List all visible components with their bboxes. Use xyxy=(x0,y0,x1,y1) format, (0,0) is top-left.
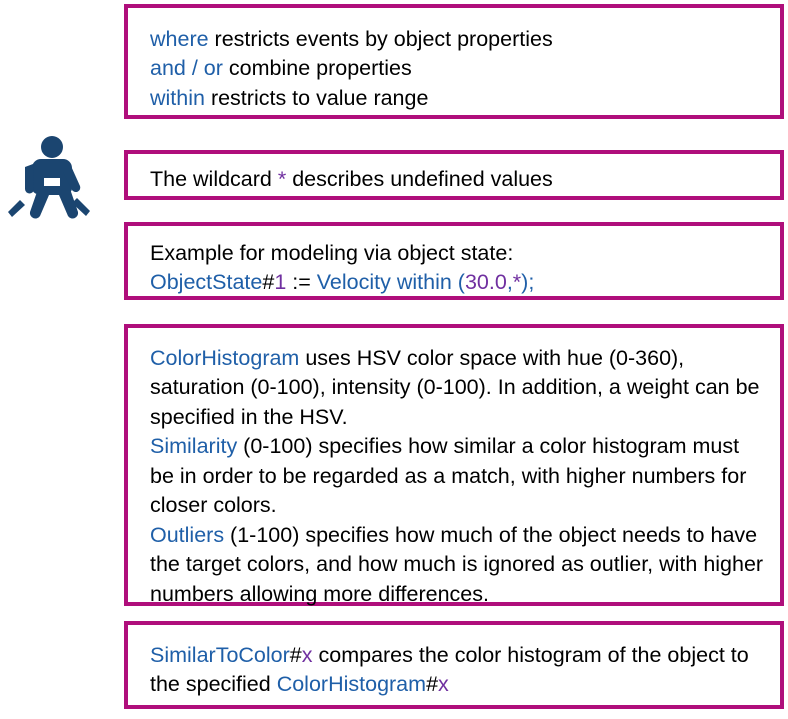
callout-line: The wildcard * describes undefined value… xyxy=(150,165,780,194)
callout-line: SimilarToColor#x compares the color hist… xyxy=(150,641,780,700)
text-token: # xyxy=(262,270,274,294)
text-token: ); xyxy=(521,270,534,294)
text-token: := xyxy=(286,270,316,294)
callout-box-similartocolor: SimilarToColor#x compares the color hist… xyxy=(124,621,784,709)
callout-box-where-clause: where restricts events by object propert… xyxy=(124,4,784,119)
text-token: # xyxy=(290,643,302,667)
callout-line: ObjectState#1 := Velocity within (30.0,*… xyxy=(150,268,780,297)
text-token: ObjectState xyxy=(150,270,262,294)
text-token: ( xyxy=(458,270,465,294)
text-token: Velocity within xyxy=(317,270,458,294)
callout-box-example: Example for modeling via object state:Ob… xyxy=(124,222,784,300)
walking-person-icon xyxy=(6,134,102,234)
callout-line: where restricts events by object propert… xyxy=(150,25,780,54)
callout-line: ColorHistogram uses HSV color space with… xyxy=(150,344,780,432)
text-token: Outliers xyxy=(150,523,224,547)
text-token: ColorHistogram xyxy=(277,672,426,696)
text-token: 30.0 xyxy=(465,270,507,294)
text-token: * xyxy=(278,167,286,191)
callout-line: Outliers (1-100) specifies how much of t… xyxy=(150,521,780,609)
text-token: x xyxy=(438,672,449,696)
text-token: (0-100) specifies how similar a color hi… xyxy=(150,434,746,517)
text-token: and / or xyxy=(150,56,223,80)
text-token: combine properties xyxy=(223,56,412,80)
text-token: where xyxy=(150,27,209,51)
callout-line: Similarity (0-100) specifies how similar… xyxy=(150,432,780,520)
callout-box-wildcard: The wildcard * describes undefined value… xyxy=(124,150,784,200)
callout-line: within restricts to value range xyxy=(150,84,780,113)
text-token: x xyxy=(302,643,313,667)
text-token: The wildcard xyxy=(150,167,278,191)
text-token: describes undefined values xyxy=(286,167,553,191)
text-token: Example for modeling via object state: xyxy=(150,241,513,265)
text-token: ColorHistogram xyxy=(150,346,299,370)
callout-line: and / or combine properties xyxy=(150,54,780,83)
text-token: * xyxy=(513,270,521,294)
text-token: within xyxy=(150,86,205,110)
callout-line: Example for modeling via object state: xyxy=(150,239,780,268)
text-token: # xyxy=(426,672,438,696)
text-token: (1-100) specifies how much of the object… xyxy=(150,523,763,606)
text-token: restricts events by object properties xyxy=(209,27,553,51)
text-token: SimilarToColor xyxy=(150,643,290,667)
text-token: 1 xyxy=(274,270,286,294)
callout-box-colorhistogram: ColorHistogram uses HSV color space with… xyxy=(124,324,784,606)
text-token: Similarity xyxy=(150,434,237,458)
text-token: restricts to value range xyxy=(205,86,428,110)
walking-person-glyph xyxy=(8,136,90,218)
